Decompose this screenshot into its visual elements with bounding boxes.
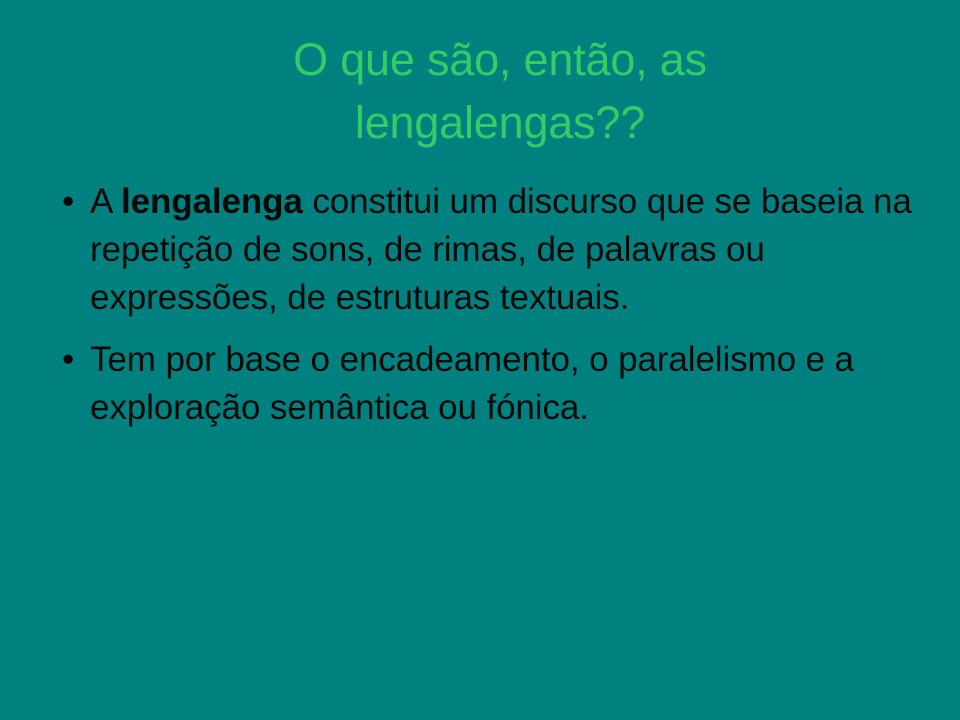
bullet-2-rest-text: Tem por base o encadeamento, o paralelis… xyxy=(90,340,854,427)
presentation-slide: O que são, então, as lengalengas?? • A l… xyxy=(0,0,960,720)
bullet-dot-icon: • xyxy=(62,178,76,226)
bullet-item-2-text: Tem por base o encadeamento, o paralelis… xyxy=(90,336,916,432)
bullet-item-1-text: A lengalenga constitui um discurso que s… xyxy=(90,178,916,322)
bullet-1-emphasis-term: lengalenga xyxy=(121,182,303,221)
slide-title: O que são, então, as lengalengas?? xyxy=(150,28,850,154)
bullet-item-2: • Tem por base o encadeamento, o paralel… xyxy=(56,336,916,432)
slide-body-bullet-list: • A lengalenga constitui um discurso que… xyxy=(56,178,916,446)
bullet-item-1: • A lengalenga constitui um discurso que… xyxy=(56,178,916,322)
bullet-1-lead-text: A xyxy=(90,182,121,221)
bullet-dot-icon: • xyxy=(62,336,76,384)
